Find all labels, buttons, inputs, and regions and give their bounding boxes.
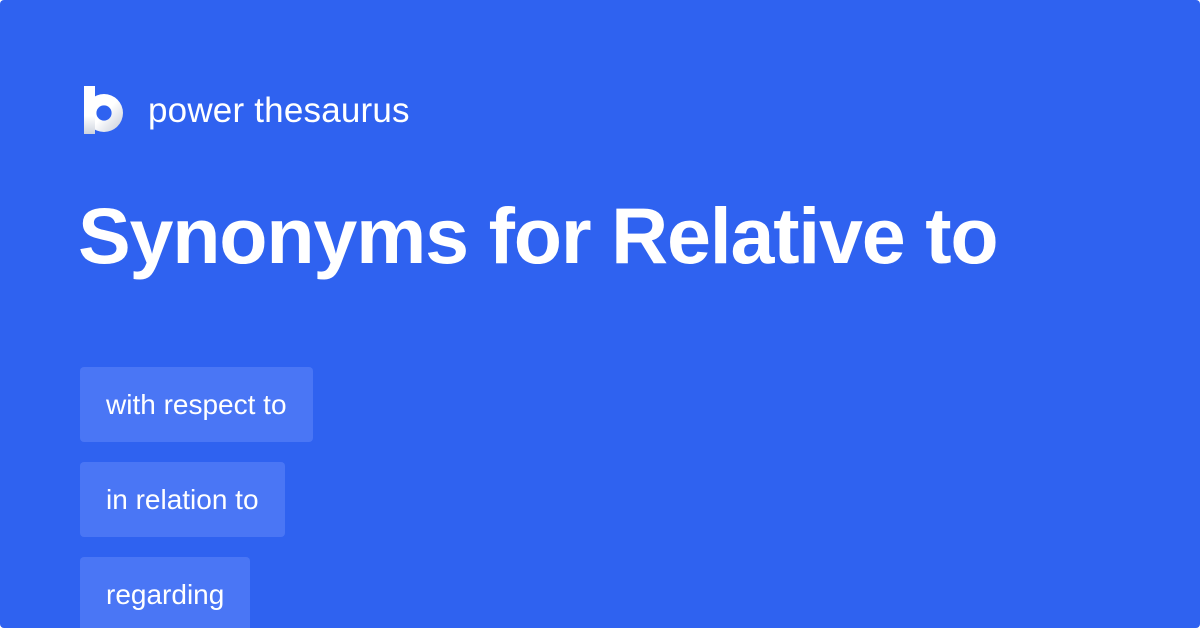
share-card: power thesaurus Synonyms for Relative to… [0,0,1200,628]
power-thesaurus-b-logo-icon [80,86,124,134]
brand-name: power thesaurus [148,93,410,128]
synonym-chip-list: with respect to in relation to regarding… [80,367,1130,628]
synonym-chip[interactable]: in relation to [80,462,285,537]
brand-header[interactable]: power thesaurus [80,82,410,138]
page-title: Synonyms for Relative to [78,196,997,275]
synonym-chip[interactable]: with respect to [80,367,313,442]
synonym-chip[interactable]: regarding [80,557,250,628]
